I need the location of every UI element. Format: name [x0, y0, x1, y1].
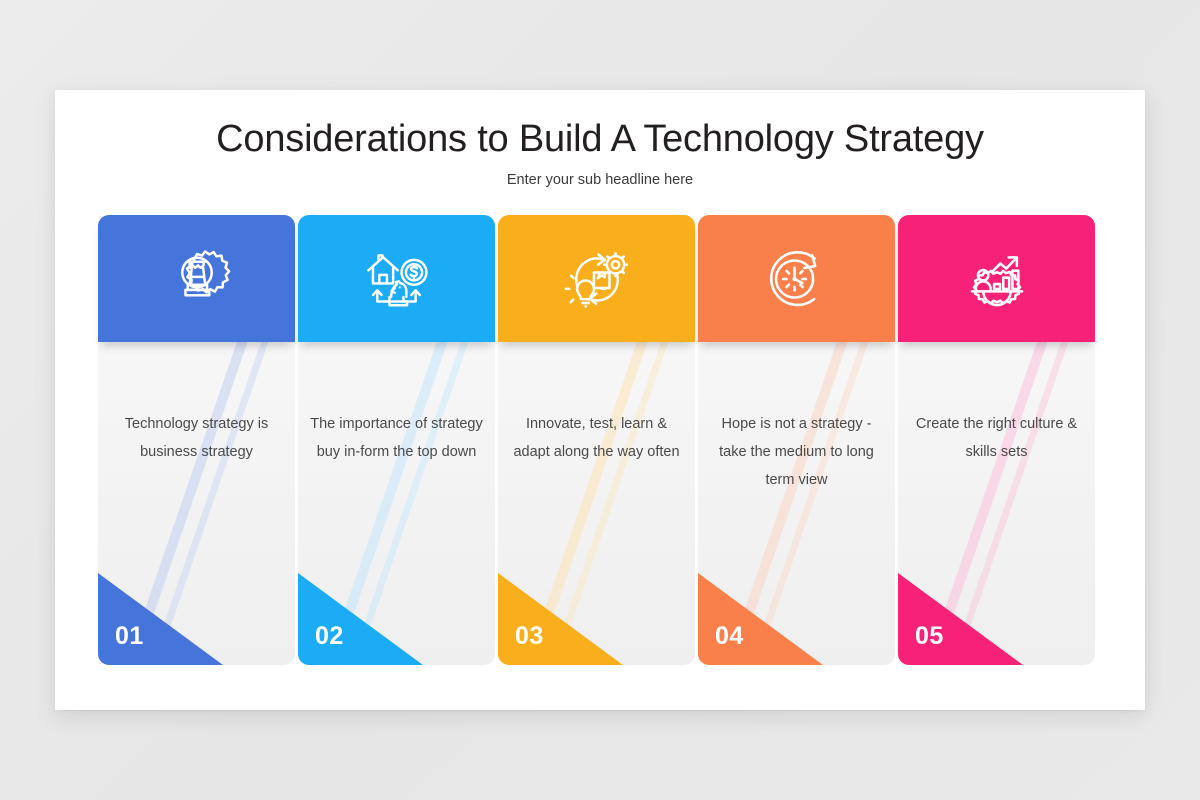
- card-body-05: Create the right culture & skills sets 0…: [898, 342, 1095, 665]
- card-number-corner: [698, 573, 823, 665]
- card-number-corner: [98, 573, 223, 665]
- slide-canvas: Considerations to Build A Technology Str…: [0, 0, 1200, 800]
- card-number-corner: [498, 573, 623, 665]
- card-number: 01: [115, 622, 144, 651]
- card-body-04: Hope is not a strategy - take the medium…: [698, 342, 895, 665]
- card-description: Hope is not a strategy - take the medium…: [708, 410, 885, 494]
- page-title: Considerations to Build A Technology Str…: [55, 118, 1145, 161]
- infographic-card[interactable]: Technology strategy is business strategy…: [98, 215, 295, 665]
- card-description: Innovate, test, learn & adapt along the …: [508, 410, 685, 466]
- page-subtitle: Enter your sub headline here: [55, 172, 1145, 188]
- card-description: Technology strategy is business strategy: [108, 410, 285, 466]
- card-number: 03: [515, 622, 544, 651]
- card-number: 05: [915, 622, 944, 651]
- house-dollar-knight-icon: [356, 241, 438, 317]
- card-description: Create the right culture & skills sets: [908, 410, 1085, 466]
- lightbulb-box-gear-cycle-icon: [557, 241, 637, 317]
- card-number-corner: [898, 573, 1023, 665]
- card-header-01: [98, 215, 295, 342]
- infographic-card-row: Technology strategy is business strategy…: [98, 215, 1104, 665]
- card-body-01: Technology strategy is business strategy…: [98, 342, 295, 665]
- chess-rook-in-gear-icon: [159, 241, 235, 317]
- presentation-slide: Considerations to Build A Technology Str…: [55, 90, 1145, 710]
- card-header-04: [698, 215, 895, 342]
- card-header-02: [298, 215, 495, 342]
- card-number: 04: [715, 622, 744, 651]
- card-number-corner: [298, 573, 423, 665]
- person-growth-chart-gear-icon: [956, 240, 1038, 318]
- card-description: The importance of strategy buy in-form t…: [308, 410, 485, 466]
- clock-rotate-icon: [758, 240, 836, 318]
- card-number: 02: [315, 622, 344, 651]
- infographic-card[interactable]: Innovate, test, learn & adapt along the …: [498, 215, 695, 665]
- card-body-03: Innovate, test, learn & adapt along the …: [498, 342, 695, 665]
- infographic-card[interactable]: Hope is not a strategy - take the medium…: [698, 215, 895, 665]
- card-body-02: The importance of strategy buy in-form t…: [298, 342, 495, 665]
- card-header-05: [898, 215, 1095, 342]
- infographic-card[interactable]: The importance of strategy buy in-form t…: [298, 215, 495, 665]
- card-header-03: [498, 215, 695, 342]
- infographic-card[interactable]: Create the right culture & skills sets 0…: [898, 215, 1095, 665]
